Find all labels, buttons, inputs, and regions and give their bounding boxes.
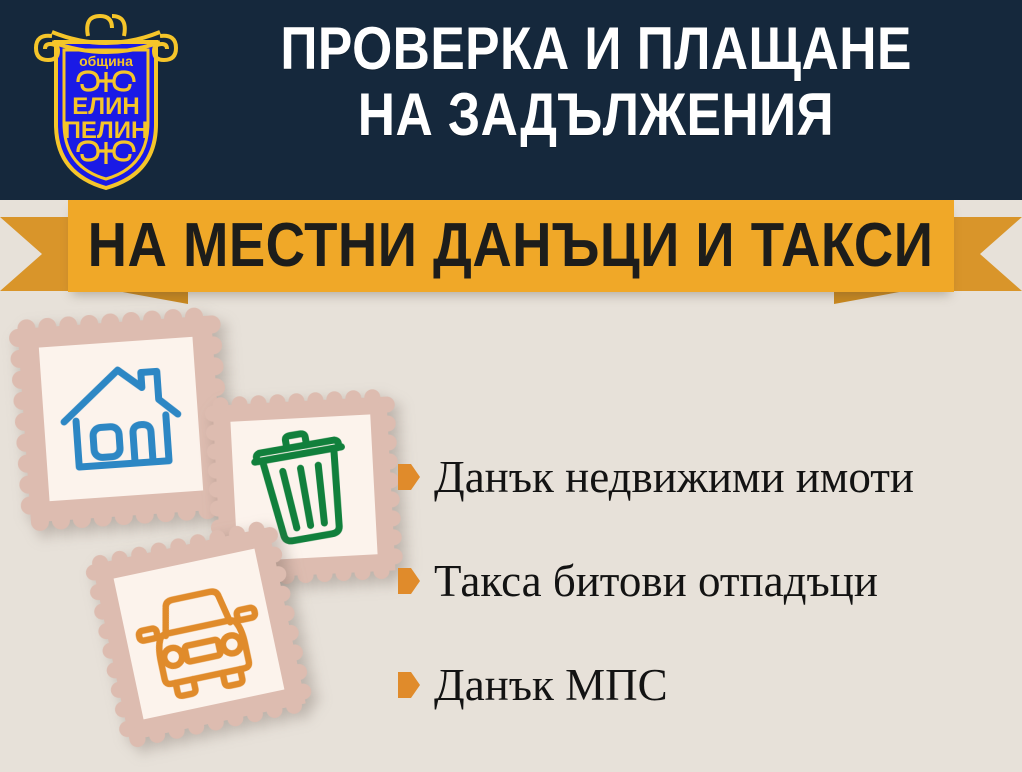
ribbon-banner: НА МЕСТНИ ДАНЪЦИ И ТАКСИ xyxy=(68,200,954,292)
stamp-card-vehicle xyxy=(82,517,317,752)
list-item[interactable]: Данък МПС xyxy=(398,633,1008,737)
stamp-card-property xyxy=(7,305,235,533)
list-item-label: Данък недвижими имоти xyxy=(434,453,914,501)
property-stamp-graphic xyxy=(7,305,235,533)
subtitle-ribbon: НА МЕСТНИ ДАНЪЦИ И ТАКСИ xyxy=(0,196,1022,316)
ribbon-label: НА МЕСТНИ ДАНЪЦИ И ТАКСИ xyxy=(88,215,934,277)
page-title-line-1: ПРОВЕРКА И ПЛАЩАНЕ xyxy=(280,16,911,82)
arrow-bullet-icon xyxy=(398,464,420,490)
list-item-label: Данък МПС xyxy=(434,661,668,709)
list-item[interactable]: Данък недвижими имоти xyxy=(398,425,1008,529)
arrow-bullet-icon xyxy=(398,672,420,698)
shield-emblem-icon: община ЕЛИН ПЕЛИН xyxy=(26,6,186,194)
list-item-label: Такса битови отпадъци xyxy=(434,557,878,605)
page-title: ПРОВЕРКА И ПЛАЩАНЕ НА ЗАДЪЛЖЕНИЯ xyxy=(190,16,1002,186)
logo-line-middle: ЕЛИН xyxy=(72,93,139,120)
header-bar: община ЕЛИН ПЕЛИН ПРОВЕРКА И ПЛАЩАНЕ НА … xyxy=(0,0,1022,200)
poster-canvas: община ЕЛИН ПЕЛИН ПРОВЕРКА И ПЛАЩАНЕ НА … xyxy=(0,0,1022,772)
arrow-bullet-icon xyxy=(398,568,420,594)
service-list: Данък недвижими имоти Такса битови отпад… xyxy=(398,425,1008,737)
municipality-logo: община ЕЛИН ПЕЛИН xyxy=(26,6,186,194)
page-title-line-2: НА ЗАДЪЛЖЕНИЯ xyxy=(358,82,834,148)
logo-line-top: община xyxy=(79,53,133,69)
logo-line-bottom: ПЕЛИН xyxy=(64,117,149,144)
list-item[interactable]: Такса битови отпадъци xyxy=(398,529,1008,633)
vehicle-stamp-graphic xyxy=(82,517,317,752)
